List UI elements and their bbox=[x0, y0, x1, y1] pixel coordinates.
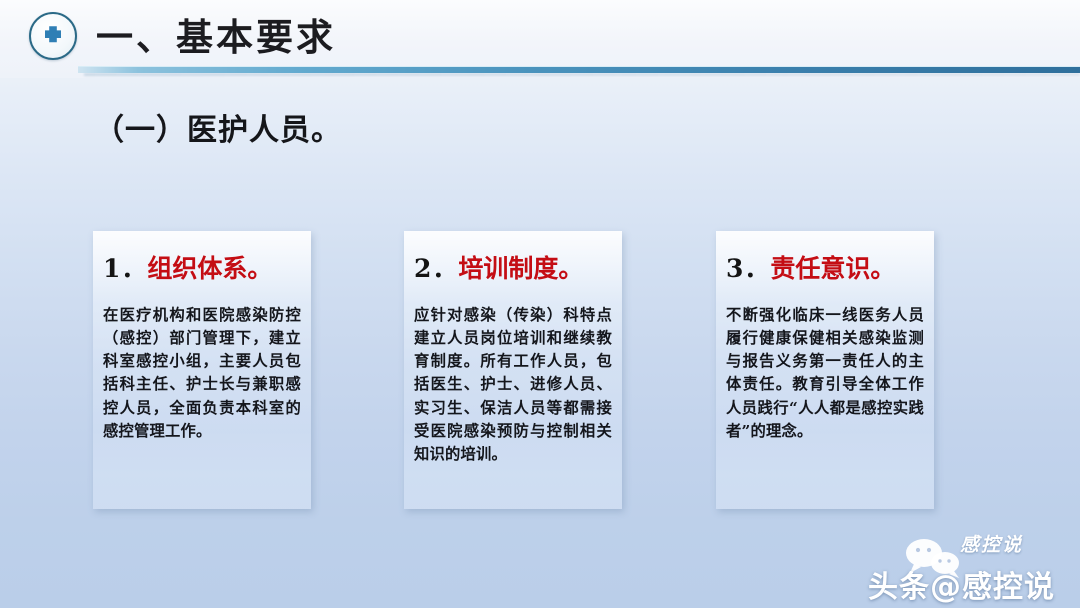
card-1-body: 在医疗机构和医院感染防控（感控）部门管理下，建立科室感控小组，主要人员包括科主任… bbox=[103, 283, 301, 444]
header-divider bbox=[78, 66, 1080, 73]
card-1-number: 1． bbox=[103, 254, 147, 283]
slide-header: 一、基本要求 bbox=[0, 0, 1080, 78]
card-2-body: 应针对感染（传染）科特点建立人员岗位培训和继续教育制度。所有工作人员，包括医生、… bbox=[414, 283, 612, 467]
header-rule-shadow bbox=[84, 73, 1080, 76]
card-3-number: 3． bbox=[726, 254, 770, 283]
medical-cross-circle-icon bbox=[29, 12, 77, 60]
card-2-number: 2． bbox=[414, 254, 458, 283]
watermark: 感控说 头条@感控说 bbox=[868, 524, 1080, 608]
page-title: 一、基本要求 bbox=[96, 7, 336, 61]
card-2-title: 2．培训制度。 bbox=[414, 231, 612, 283]
content-card-2: 2．培训制度。 应针对感染（传染）科特点建立人员岗位培训和继续教育制度。所有工作… bbox=[404, 231, 622, 509]
watermark-platform: 头条 bbox=[868, 570, 930, 605]
card-3-body: 不断强化临床一线医务人员履行健康保健相关感染监测与报告义务第一责任人的主体责任。… bbox=[726, 283, 924, 444]
watermark-at-symbol: @ bbox=[930, 569, 962, 605]
section-subtitle: （一）医护人员。 bbox=[94, 105, 342, 149]
watermark-main: 头条@感控说 bbox=[868, 562, 1055, 606]
slide-root: 一、基本要求 （一）医护人员。 1．组织体系。 在医疗机构和医院感染防控（感控）… bbox=[0, 0, 1080, 608]
card-2-title-text: 培训制度。 bbox=[458, 254, 583, 283]
watermark-account-small: 感控说 bbox=[960, 530, 1023, 557]
card-1-title-text: 组织体系。 bbox=[147, 254, 272, 283]
card-3-title: 3．责任意识。 bbox=[726, 231, 924, 283]
watermark-account: 感控说 bbox=[962, 570, 1055, 605]
card-3-title-text: 责任意识。 bbox=[770, 254, 895, 283]
content-card-3: 3．责任意识。 不断强化临床一线医务人员履行健康保健相关感染监测与报告义务第一责… bbox=[716, 231, 934, 509]
cross-glyph bbox=[40, 23, 66, 49]
card-1-title: 1．组织体系。 bbox=[103, 231, 301, 283]
content-card-1: 1．组织体系。 在医疗机构和医院感染防控（感控）部门管理下，建立科室感控小组，主… bbox=[93, 231, 311, 509]
